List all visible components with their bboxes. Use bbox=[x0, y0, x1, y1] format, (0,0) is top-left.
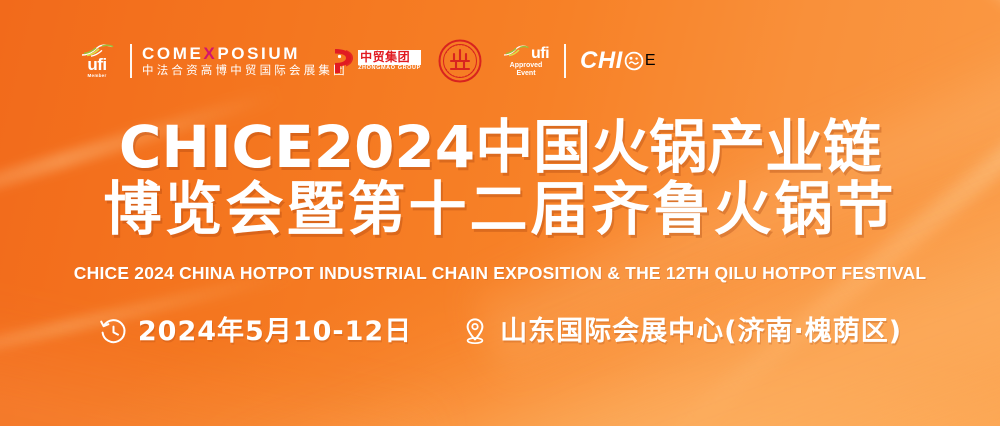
comexposium-word-part2: POSIUM bbox=[217, 44, 300, 63]
zhongmao-chinese-name: 中贸集团 bbox=[358, 50, 421, 65]
title-line-1: CHICE2024中国火锅产业链 bbox=[0, 116, 1000, 178]
ufi-wordmark: ufi bbox=[87, 56, 106, 73]
event-date-item: 2024年5月10-12日 bbox=[98, 316, 412, 346]
circular-red-seal-icon bbox=[438, 39, 482, 83]
wings-icon bbox=[503, 44, 529, 62]
red-ribbon-mark-icon bbox=[331, 47, 355, 75]
event-title: CHICE2024中国火锅产业链 博览会暨第十二届齐鲁火锅节 bbox=[0, 116, 1000, 240]
chice-word-part2: E bbox=[645, 52, 656, 70]
zhongmao-text-block: 中贸集团 ZHONGMAO GROUP bbox=[358, 50, 421, 72]
ufi-member-logo: ufi Member bbox=[74, 36, 120, 86]
location-pin-icon bbox=[460, 316, 490, 346]
light-ray-decoration bbox=[0, 284, 445, 426]
chice-word-part1: CHI bbox=[580, 49, 623, 73]
chice-wordmark: CHI bbox=[580, 49, 645, 73]
event-banner: ufi Member COMEXPOSIUM 中法合资高博中贸国际会展集团 中贸… bbox=[0, 0, 1000, 426]
wings-icon bbox=[80, 44, 114, 57]
zhongmao-group-logo: 中贸集团 ZHONGMAO GROUP bbox=[330, 36, 422, 86]
ufi-approved-label-2: Event bbox=[516, 70, 535, 78]
title-line-2: 博览会暨第十二届齐鲁火锅节 bbox=[0, 178, 1000, 240]
event-venue-text: 山东国际会展中心(济南·槐荫区) bbox=[500, 318, 902, 345]
comexposium-x-letter: X bbox=[203, 44, 217, 63]
ufi-approved-label-1: Approved bbox=[510, 62, 543, 70]
chice-logo: CHI E bbox=[580, 36, 656, 86]
english-subtitle: CHICE 2024 CHINA HOTPOT INDUSTRIAL CHAIN… bbox=[0, 263, 1000, 284]
clock-icon bbox=[98, 316, 128, 346]
comexposium-chinese-name: 中法合资高博中贸国际会展集团 bbox=[142, 65, 348, 77]
light-ray-decoration bbox=[621, 0, 1000, 45]
event-venue-item: 山东国际会展中心(济南·槐荫区) bbox=[460, 316, 902, 346]
ufi-wordmark: ufi bbox=[531, 46, 549, 62]
ufi-approved-event-logo: ufi Approved Event bbox=[498, 36, 554, 86]
ufi-approved-row: ufi bbox=[503, 44, 549, 62]
logo-divider bbox=[564, 44, 566, 78]
red-seal-logo bbox=[422, 36, 482, 86]
hotpot-icon bbox=[624, 51, 644, 71]
zhongmao-english-name: ZHONGMAO GROUP bbox=[358, 66, 421, 72]
ufi-member-label: Member bbox=[87, 74, 106, 79]
comexposium-wordmark: COMEXPOSIUM bbox=[142, 45, 300, 62]
logo-divider bbox=[130, 44, 132, 78]
comexposium-word-part1: COME bbox=[142, 44, 203, 63]
comexposium-logo: COMEXPOSIUM 中法合资高博中贸国际会展集团 bbox=[142, 36, 324, 86]
event-info-row: 2024年5月10-12日 山东国际会展中心(济南·槐荫区) bbox=[0, 316, 1000, 346]
sponsor-logo-strip: ufi Member COMEXPOSIUM 中法合资高博中贸国际会展集团 中贸… bbox=[74, 36, 656, 86]
event-date-text: 2024年5月10-12日 bbox=[138, 318, 412, 345]
